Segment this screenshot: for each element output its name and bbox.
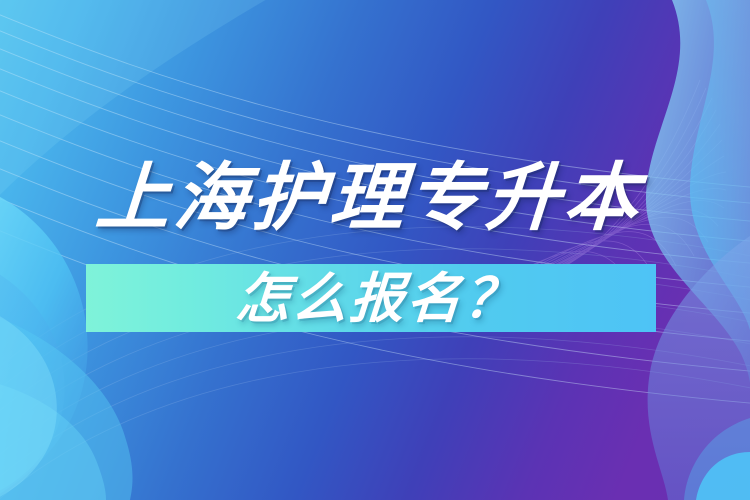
page-subtitle: 怎么报名？	[234, 268, 523, 330]
promo-banner: 上海护理专升本 怎么报名？	[0, 0, 750, 500]
banner-content: 上海护理专升本 怎么报名？	[0, 0, 750, 500]
page-title: 上海护理专升本	[93, 154, 645, 242]
